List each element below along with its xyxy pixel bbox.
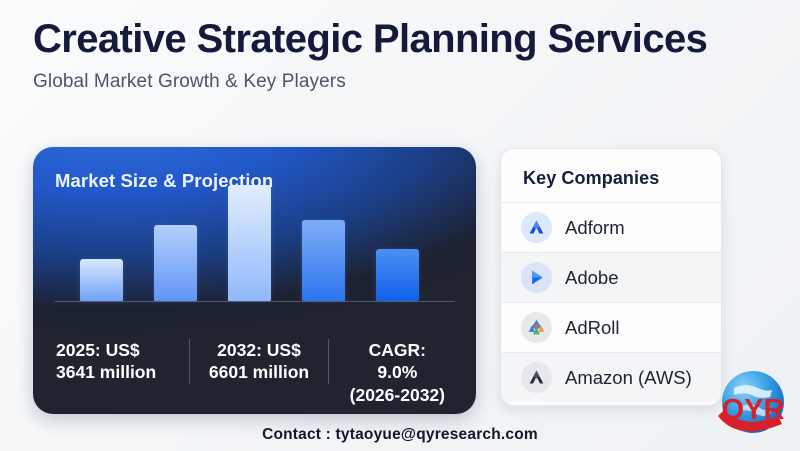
chart-bar [80, 259, 123, 301]
market-size-card: Market Size & Projection 2025: US$ 3641 … [33, 147, 476, 414]
stat-cagr: CAGR: 9.0% (2026-2032) [329, 339, 466, 406]
stat-2032: 2032: US$ 6601 million [189, 339, 328, 384]
stat-2025: 2025: US$ 3641 million [43, 339, 189, 384]
market-stats-row: 2025: US$ 3641 million 2032: US$ 6601 mi… [43, 339, 466, 406]
amazon-aws-logo-icon [521, 362, 552, 393]
company-list-item[interactable]: Adform [501, 202, 721, 252]
company-name: AdRoll [565, 317, 620, 339]
company-list: AdformAdobeAdRollAmazon (AWS) [501, 202, 721, 402]
chart-bar [376, 249, 419, 301]
market-projection-bar-chart [33, 147, 476, 311]
company-name: Amazon (AWS) [565, 367, 692, 389]
key-companies-panel: Key Companies AdformAdobeAdRollAmazon (A… [500, 148, 722, 406]
qyr-globe-icon: QYR [712, 366, 794, 446]
adform-logo-icon [521, 212, 552, 243]
company-list-item[interactable]: Adobe [501, 252, 721, 302]
key-companies-title: Key Companies [501, 149, 721, 202]
contact-line: Contact : tytaoyue@qyresearch.com [0, 426, 800, 444]
adobe-logo-icon [521, 262, 552, 293]
company-list-item[interactable]: Amazon (AWS) [501, 352, 721, 402]
adroll-logo-icon [521, 312, 552, 343]
company-name: Adform [565, 217, 625, 239]
company-list-item[interactable]: AdRoll [501, 302, 721, 352]
qyr-logo-text: QYR [722, 394, 785, 426]
chart-bar [302, 220, 345, 301]
page-subtitle: Global Market Growth & Key Players [33, 71, 707, 93]
chart-bar [154, 225, 197, 301]
company-name: Adobe [565, 267, 619, 289]
chart-bar [228, 185, 271, 301]
chart-baseline [55, 301, 455, 302]
page-title: Creative Strategic Planning Services [33, 18, 707, 60]
page-header: Creative Strategic Planning Services Glo… [33, 18, 707, 93]
